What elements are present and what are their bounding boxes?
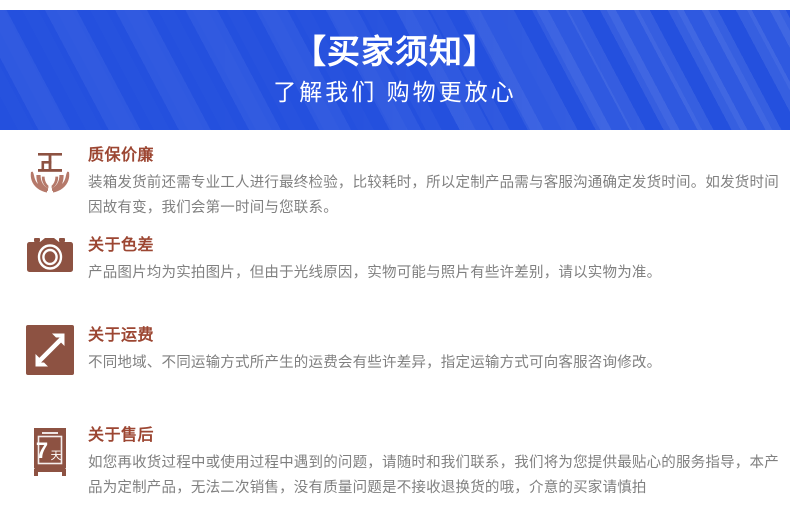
notice-title: 关于色差 bbox=[88, 235, 780, 257]
buyer-notice-page: 【买家须知】 了解我们 购物更放心 bbox=[0, 0, 790, 509]
notice-text-quality: 质保价廉 装箱发货前还需专业工人进行最终检验，比较耗时，所以定制产品需与客服沟通… bbox=[88, 145, 780, 221]
notice-body: 不同地域、不同运输方式所产生的运费会有些许差异，指定运输方式可向客服咨询修改。 bbox=[88, 351, 780, 376]
banner-subtitle: 了解我们 购物更放心 bbox=[273, 80, 516, 105]
notice-title: 关于售后 bbox=[88, 425, 780, 447]
svg-text:7: 7 bbox=[36, 438, 48, 463]
notice-text-shipping: 关于运费 不同地域、不同运输方式所产生的运费会有些许差异，指定运输方式可向客服咨… bbox=[88, 325, 780, 376]
notice-title: 质保价廉 bbox=[88, 145, 780, 167]
notice-text-aftersales: 关于售后 如您再收货过程中或使用过程中遇到的问题，请随时和我们联系，我们将为您提… bbox=[88, 425, 780, 501]
svg-text:天: 天 bbox=[51, 450, 62, 462]
banner-text-block: 【买家须知】 了解我们 购物更放心 bbox=[0, 10, 790, 130]
notice-body: 产品图片均为实拍图片，但由于光线原因，实物可能与照片有些许差别，请以实物为准。 bbox=[88, 261, 780, 286]
diagonal-double-arrow-icon bbox=[22, 325, 78, 381]
notice-body: 如您再收货过程中或使用过程中遇到的问题，请随时和我们联系，我们将为您提供最贴心的… bbox=[88, 451, 780, 501]
banner-title: 【买家须知】 bbox=[293, 35, 497, 70]
hands-holding-zheng-icon bbox=[22, 145, 78, 201]
header-banner: 【买家须知】 了解我们 购物更放心 bbox=[0, 10, 790, 130]
camera-icon bbox=[22, 235, 78, 291]
notice-title: 关于运费 bbox=[88, 325, 780, 347]
notice-text-color: 关于色差 产品图片均为实拍图片，但由于光线原因，实物可能与照片有些许差别，请以实… bbox=[88, 235, 780, 286]
seven-day-badge-icon: 7 天 bbox=[22, 425, 78, 481]
notice-body: 装箱发货前还需专业工人进行最终检验，比较耗时，所以定制产品需与客服沟通确定发货时… bbox=[88, 171, 780, 221]
